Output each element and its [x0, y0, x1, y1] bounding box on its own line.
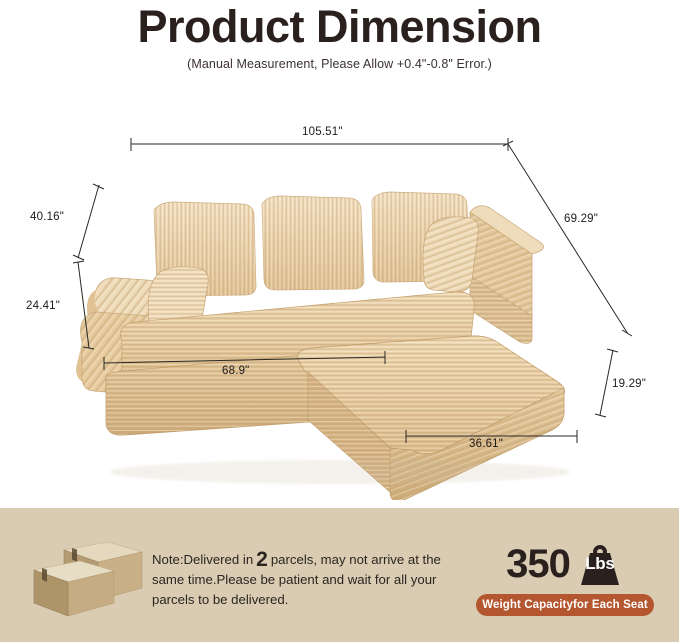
measurement-disclaimer: (Manual Measurement, Please Allow +0.4"-… [0, 57, 679, 71]
product-dimension-infographic: Product Dimension (Manual Measurement, P… [0, 0, 679, 642]
delivery-banner: Note:Delivered in2parcels, may not arriv… [0, 508, 679, 642]
page-title: Product Dimension [0, 0, 679, 49]
weight-row: 350 Lbs [470, 538, 660, 590]
dimension-diagram: 105.51" 69.29" 40.16" 24.41" 68.9" 19.29… [0, 80, 679, 500]
dimension-lines: 105.51" 69.29" 40.16" 24.41" 68.9" 19.29… [0, 80, 679, 500]
parcel-count: 2 [253, 548, 271, 571]
weight-capacity: 350 Lbs Weight Capacityfor Each Seat [470, 538, 660, 618]
delivery-note: Note:Delivered in2parcels, may not arriv… [152, 550, 452, 610]
capacity-badge: Weight Capacityfor Each Seat [476, 594, 654, 616]
label-chaise-height: 19.29" [612, 378, 646, 390]
label-seat-width: 68.9" [222, 365, 249, 377]
weight-icon: Lbs [576, 541, 624, 587]
parcel-boxes-icon [26, 536, 146, 618]
label-overall-width: 105.51" [302, 126, 343, 138]
line-overall-depth [508, 144, 628, 334]
header: Product Dimension (Manual Measurement, P… [0, 0, 679, 76]
line-seat-width [104, 357, 385, 363]
line-arm-height [78, 262, 89, 348]
weight-unit: Lbs [576, 554, 624, 574]
label-back-height: 40.16" [30, 211, 64, 223]
label-arm-height: 24.41" [26, 300, 60, 312]
note-prefix: Note:Delivered in [152, 552, 253, 567]
label-overall-depth: 69.29" [564, 213, 598, 225]
weight-value: 350 [506, 544, 570, 584]
dimension-lines-svg [0, 80, 679, 500]
boxes-svg [26, 536, 146, 618]
line-back-height [78, 185, 99, 258]
label-chaise-width: 36.61" [469, 438, 503, 450]
